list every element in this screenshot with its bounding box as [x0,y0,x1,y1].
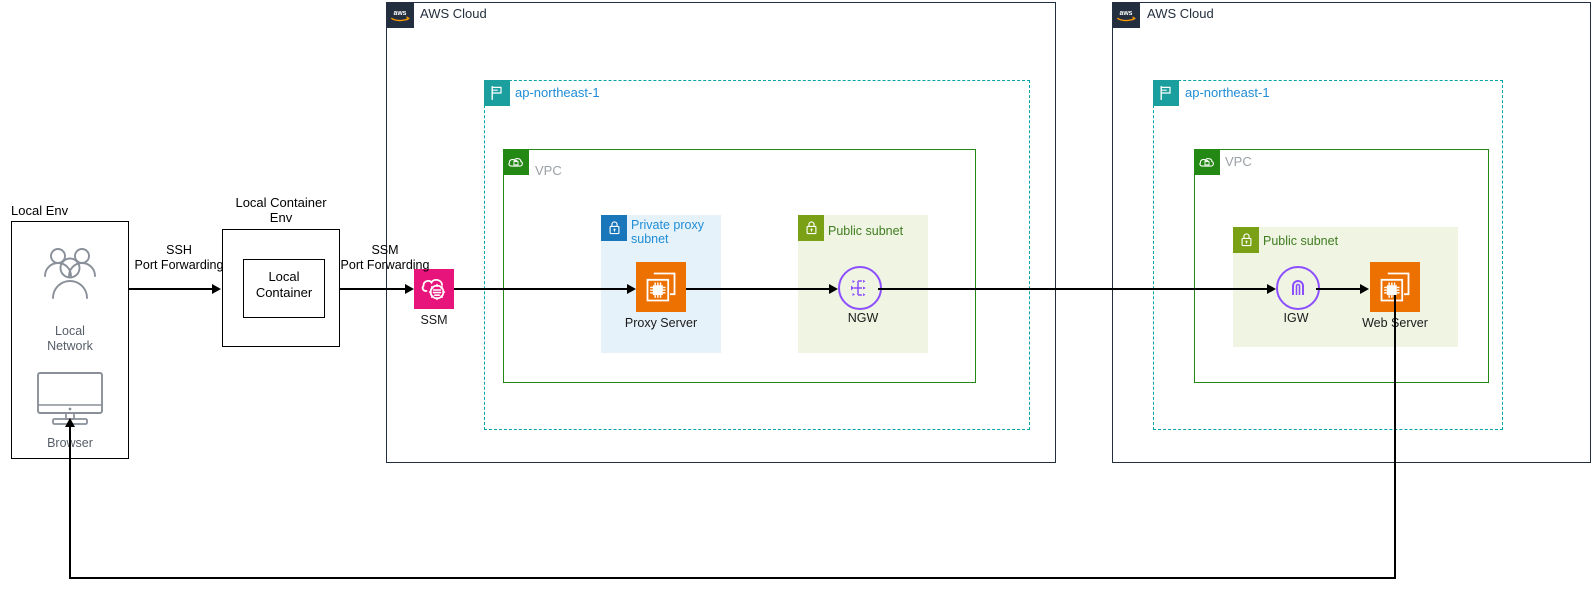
connector-proxy-to-ngw [686,288,831,290]
region-left-label: ap-northeast-1 [515,86,600,100]
subnet-public-left-label: Public subnet [828,224,903,238]
ngw-caption: NGW [798,311,928,326]
ssm-cloud-gear-icon [414,269,454,309]
ec2-instance-icon-proxy [636,262,686,312]
lock-icon [798,215,824,241]
connector-ssm-label: SSM Port Forwarding [324,243,446,273]
internet-gateway-icon [1276,266,1320,310]
subnet-public-right-label: Public subnet [1263,234,1338,248]
connector-ngw-to-igw-arrowhead [1267,284,1276,294]
connector-proxy-to-ngw-arrowhead [829,284,838,294]
subnet-private-proxy-label: Private proxy subnet [631,218,731,246]
diagram-canvas: aws AWS Cloud ap-northeast-1 VPC [0,0,1591,589]
svg-text:aws: aws [1120,10,1133,17]
connector-return-vertical-right [1394,295,1396,578]
local-container-label: Local Container [243,269,325,301]
ssm-caption: SSM [394,313,474,328]
users-group-icon [38,245,102,305]
region-flag-icon [1153,80,1179,106]
aws-cloud-left-label: AWS Cloud [420,7,487,21]
svg-text:aws: aws [394,10,407,17]
connector-return-horizontal-bottom [69,577,1396,579]
lock-icon [601,215,627,241]
proxy-server-caption: Proxy Server [601,316,721,331]
region-flag-icon [484,80,510,106]
igw-caption: IGW [1256,311,1336,326]
vpc-right-label: VPC [1225,155,1252,169]
connector-ssm-line [340,288,407,290]
connector-ssm-to-proxy [454,288,629,290]
vpc-left-label: VPC [535,164,562,178]
local-network-caption: Local Network [11,324,129,354]
connector-return-arrowhead [65,418,75,427]
aws-logo-icon: aws [386,2,414,28]
connector-return-vertical-left [69,425,71,578]
lock-icon [1233,227,1259,253]
connector-igw-to-web [1316,288,1363,290]
aws-logo-icon: aws [1112,2,1140,28]
local-container-env-title: Local Container Env [202,195,360,225]
connector-ssh-line [129,288,214,290]
aws-cloud-right-label: AWS Cloud [1147,7,1214,21]
connector-ssh-label: SSH Port Forwarding [118,243,240,273]
connector-igw-to-web-arrowhead [1360,284,1369,294]
connector-ssm-to-proxy-arrowhead [627,284,636,294]
nat-gateway-icon [838,266,882,310]
region-right-label: ap-northeast-1 [1185,86,1270,100]
connector-ssm-arrowhead [405,284,414,294]
connector-ssh-arrowhead [212,284,221,294]
local-env-title: Local Env [11,203,129,218]
vpc-cloud-icon [503,149,529,175]
vpc-cloud-icon [1194,149,1220,175]
connector-ngw-to-igw [878,288,1269,290]
